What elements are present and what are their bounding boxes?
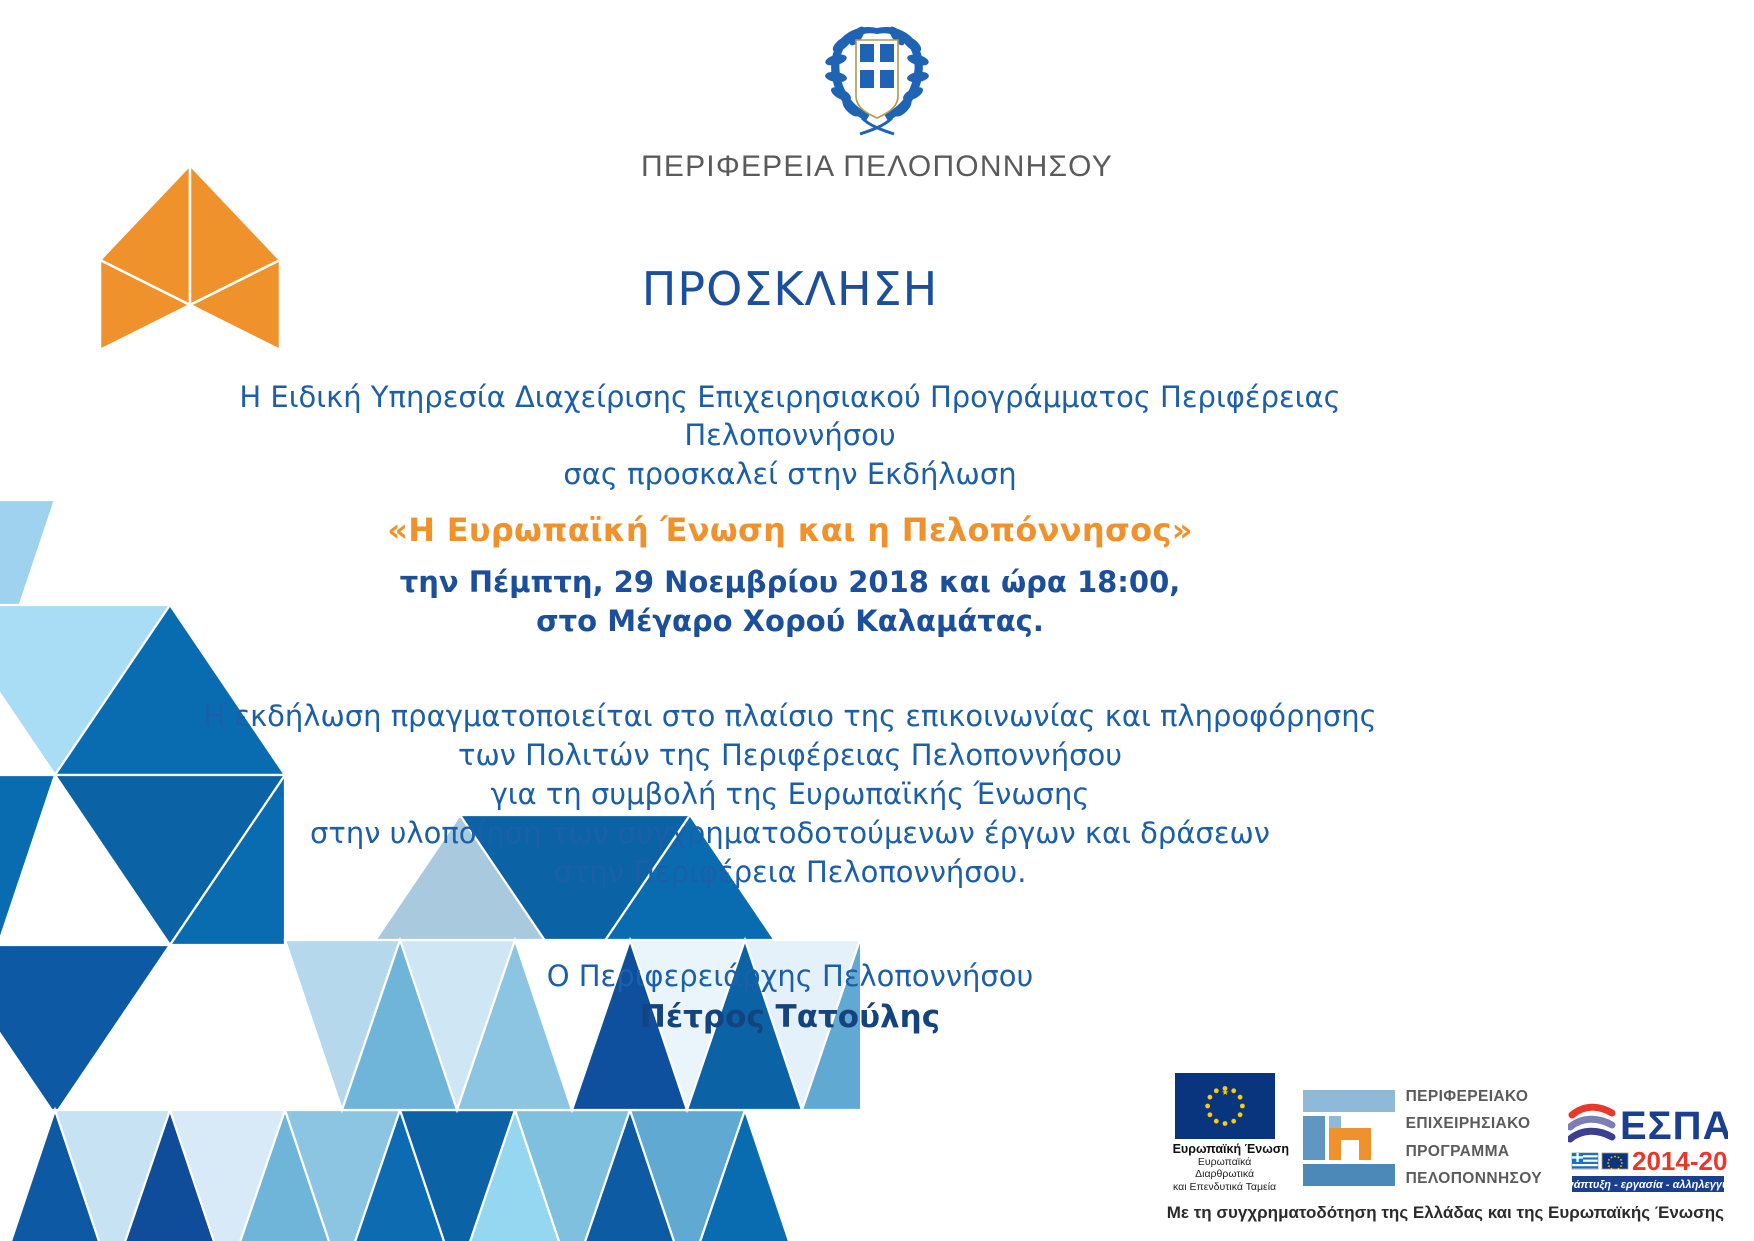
description-line-3: για τη συμβολή της Ευρωπαϊκής Ένωσης [491, 777, 1090, 811]
intro-text: Η Ειδική Υπηρεσία Διαχείρισης Επιχειρησι… [180, 378, 1400, 493]
svg-text:ΕΣΠΑ: ΕΣΠΑ [1620, 1104, 1728, 1148]
event-datetime-venue: την Πέμπτη, 29 Νοεμβρίου 2018 και ώρα 18… [180, 563, 1400, 641]
footer-logos: Ευρωπαϊκή Ένωση Ευρωπαϊκά Διαρθρωτικά κα… [988, 1073, 1728, 1224]
eu-caption-title: Ευρωπαϊκή Ένωση [1173, 1142, 1277, 1156]
signatory-name: Πέτρος Τατούλης [180, 997, 1400, 1039]
signature-block: Ο Περιφερειάρχης Πελοποννήσου Πέτρος Τατ… [180, 957, 1400, 1038]
espa-tagline: ανάπτυξη - εργασία - αλληλεγγύη [1568, 1179, 1728, 1191]
regional-op-text: ΠΕΡΙΦΕΡΕΙΑΚΟ ΕΠΙΧΕΙΡΗΣΙΑΚΟ ΠΡΟΓΡΑΜΜΑ ΠΕΛ… [1406, 1083, 1542, 1193]
page-title: ΠΡΟΣΚΛΗΣΗ [180, 262, 1400, 316]
logo-row: Ευρωπαϊκή Ένωση Ευρωπαϊκά Διαρθρωτικά κα… [988, 1073, 1728, 1194]
espa-wave-icon [1570, 1107, 1612, 1139]
description-line-2: των Πολιτών της Περιφέρειας Πελοποννήσου [458, 738, 1122, 772]
cofinancing-note: Με τη συγχρηματοδότηση της Ελλάδας και τ… [988, 1203, 1728, 1223]
peloponnese-op-mark-icon [1303, 1090, 1395, 1186]
invitation-page: ΠΕΡΙΦΕΡΕΙΑ ΠΕΛΟΠΟΝΝΗΣΟΥ ΠΡΟΣΚΛΗΣΗ Η Ειδι… [0, 0, 1754, 1241]
description-line-5: στην Περιφέρεια Πελοποννήσου. [554, 855, 1027, 889]
intro-line-1: Η Ειδική Υπηρεσία Διαχείρισης Επιχειρησι… [239, 380, 1340, 452]
op-line-3: ΠΡΟΓΡΑΜΜΑ [1406, 1138, 1542, 1166]
svg-text:2014-2020: 2014-2020 [1632, 1146, 1728, 1176]
greek-coat-of-arms-icon [812, 22, 942, 144]
invitation-content: ΠΡΟΣΚΛΗΣΗ Η Ειδική Υπηρεσία Διαχείρισης … [180, 262, 1400, 1038]
intro-line-2: σας προσκαλεί στην Εκδήλωση [563, 457, 1016, 491]
op-line-1: ΠΕΡΙΦΕΡΕΙΑΚΟ [1406, 1083, 1542, 1111]
eu-logo: Ευρωπαϊκή Ένωση Ευρωπαϊκά Διαρθρωτικά κα… [1173, 1073, 1277, 1194]
event-title: «Η Ευρωπαϊκή Ένωση και η Πελοπόννησος» [180, 511, 1400, 549]
op-line-4: ΠΕΛΟΠΟΝΝΗΣΟΥ [1406, 1165, 1542, 1193]
op-line-2: ΕΠΙΧΕΙΡΗΣΙΑΚΟ [1406, 1110, 1542, 1138]
document-header: ΠΕΡΙΦΕΡΕΙΑ ΠΕΛΟΠΟΝΝΗΣΟΥ [0, 22, 1754, 184]
description-line-1: Η εκδήλωση πραγματοποιείται στο πλαίσιο … [203, 699, 1376, 733]
eu-flag-icon [1175, 1073, 1275, 1139]
regional-op-logo: ΠΕΡΙΦΕΡΕΙΑΚΟ ΕΠΙΧΕΙΡΗΣΙΑΚΟ ΠΡΟΓΡΑΜΜΑ ΠΕΛ… [1303, 1083, 1542, 1193]
event-venue: στο Μέγαρο Χορού Καλαμάτας. [536, 604, 1044, 638]
event-description: Η εκδήλωση πραγματοποιείται στο πλαίσιο … [180, 697, 1400, 891]
eu-caption-line-1: Ευρωπαϊκά Διαρθρωτικά [1173, 1156, 1277, 1181]
signatory-role: Ο Περιφερειάρχης Πελοποννήσου [180, 957, 1400, 996]
event-datetime: την Πέμπτη, 29 Νοεμβρίου 2018 και ώρα 18… [400, 565, 1181, 599]
description-line-4: στην υλοποίηση των συγχρηματοδοτούμενων … [310, 816, 1270, 850]
espa-logo: ΕΣΠΑ [1568, 1097, 1728, 1193]
eu-caption-line-2: και Επενδυτικά Ταμεία [1173, 1181, 1277, 1193]
organization-name: ΠΕΡΙΦΕΡΕΙΑ ΠΕΛΟΠΟΝΝΗΣΟΥ [0, 150, 1754, 184]
